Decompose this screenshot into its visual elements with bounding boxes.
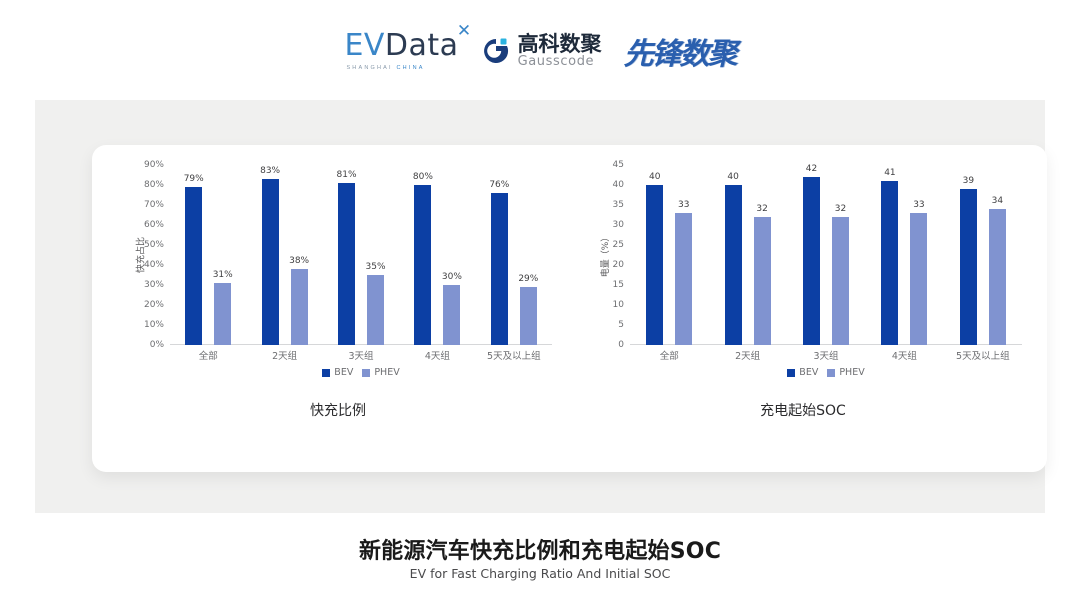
legend-item-phev[interactable]: PHEV xyxy=(362,367,399,378)
x-axis-tick-label: 4天组 xyxy=(865,348,943,362)
y-axis-tick: 80% xyxy=(144,180,164,190)
logo-bar: EVData✕ SHANGHAI CHINA 高科数聚 Gausscode 先锋… xyxy=(0,22,1080,80)
legend-item-phev[interactable]: PHEV xyxy=(827,367,864,378)
charts-card: 快充占比0%10%20%30%40%50%60%70%80%90%79%31%8… xyxy=(92,145,1047,472)
y-axis-tick: 10% xyxy=(144,320,164,330)
x-axis-tick-label: 全部 xyxy=(170,348,246,362)
y-axis-tick: 35 xyxy=(613,200,624,210)
bar-bev[interactable]: 39 xyxy=(960,189,977,345)
bar-bev[interactable]: 40 xyxy=(646,185,663,345)
legend-label: PHEV xyxy=(374,367,399,378)
y-axis-tick: 20% xyxy=(144,300,164,310)
bar-group: 80%30% xyxy=(399,165,475,345)
x-axis-tick-label: 5天及以上组 xyxy=(944,348,1022,362)
bar-value-label: 33 xyxy=(678,200,689,210)
bar-value-label: 38% xyxy=(289,256,309,266)
x-axis-tick-label: 4天组 xyxy=(399,348,475,362)
bar-value-label: 30% xyxy=(442,272,462,282)
page-subtitle: EV for Fast Charging Ratio And Initial S… xyxy=(0,566,1080,581)
legend-label: PHEV xyxy=(839,367,864,378)
gausscode-cn-text: 高科数聚 xyxy=(518,33,602,55)
chart-legend: BEVPHEV xyxy=(630,367,1022,378)
bar-bev[interactable]: 83% xyxy=(262,179,279,345)
bar-phev[interactable]: 31% xyxy=(214,283,231,345)
bar-value-label: 32 xyxy=(835,204,846,214)
y-axis-tick: 60% xyxy=(144,220,164,230)
bar-group: 3934 xyxy=(944,165,1022,345)
evdata-tagline: SHANGHAI CHINA xyxy=(346,65,424,71)
evdata-x-icon: ✕ xyxy=(457,23,472,40)
chart-caption: 充电起始SOC xyxy=(568,400,1038,420)
y-axis-tick: 30 xyxy=(613,220,624,230)
bar-bev[interactable]: 79% xyxy=(185,187,202,345)
gausscode-mark-icon xyxy=(481,36,511,66)
bar-group: 81%35% xyxy=(323,165,399,345)
y-axis-tick: 40% xyxy=(144,260,164,270)
legend-swatch-icon xyxy=(322,369,330,377)
bar-group: 79%31% xyxy=(170,165,246,345)
y-axis-tick: 20 xyxy=(613,260,624,270)
bar-value-label: 79% xyxy=(184,174,204,184)
bar-value-label: 41 xyxy=(884,168,895,178)
bar-phev[interactable]: 35% xyxy=(367,275,384,345)
bar-value-label: 39 xyxy=(963,176,974,186)
bar-groups: 79%31%83%38%81%35%80%30%76%29% xyxy=(170,165,552,345)
bar-group: 76%29% xyxy=(476,165,552,345)
legend-swatch-icon xyxy=(827,369,835,377)
x-axis-tick-label: 2天组 xyxy=(246,348,322,362)
x-axis-tick-label: 3天组 xyxy=(787,348,865,362)
evdata-logo: EVData✕ SHANGHAI CHINA xyxy=(344,31,458,71)
chart-legend: BEVPHEV xyxy=(170,367,552,378)
bar-phev[interactable]: 30% xyxy=(443,285,460,345)
bar-value-label: 42 xyxy=(806,164,817,174)
bar-value-label: 80% xyxy=(413,172,433,182)
bar-value-label: 83% xyxy=(260,166,280,176)
chart-initial-soc: 电量（%）05101520253035404540334032423241333… xyxy=(568,145,1038,472)
gausscode-logo: 高科数聚 Gausscode xyxy=(481,33,602,69)
evdata-wordmark: EVData✕ xyxy=(344,31,458,61)
bar-phev[interactable]: 33 xyxy=(910,213,927,345)
y-axis-tick: 10 xyxy=(613,300,624,310)
y-axis-tick: 25 xyxy=(613,240,624,250)
bar-value-label: 31% xyxy=(213,270,233,280)
bar-group: 4133 xyxy=(865,165,943,345)
y-axis-tick: 5 xyxy=(618,320,624,330)
bar-value-label: 76% xyxy=(489,180,509,190)
xianfeng-logo: 先锋数聚 xyxy=(624,29,736,73)
bar-phev[interactable]: 34 xyxy=(989,209,1006,345)
y-axis-tick: 50% xyxy=(144,240,164,250)
x-axis-tick-label: 全部 xyxy=(630,348,708,362)
bar-bev[interactable]: 40 xyxy=(725,185,742,345)
y-axis-tick: 30% xyxy=(144,280,164,290)
bar-groups: 40334032423241333934 xyxy=(630,165,1022,345)
bar-bev[interactable]: 76% xyxy=(491,193,508,345)
bar-phev[interactable]: 33 xyxy=(675,213,692,345)
bar-phev[interactable]: 29% xyxy=(520,287,537,345)
bar-value-label: 81% xyxy=(337,170,357,180)
y-axis-tick: 15 xyxy=(613,280,624,290)
bar-phev[interactable]: 38% xyxy=(291,269,308,345)
bar-group: 4033 xyxy=(630,165,708,345)
evdata-ev-text: EV xyxy=(344,28,384,63)
legend-label: BEV xyxy=(799,367,818,378)
bar-bev[interactable]: 80% xyxy=(414,185,431,345)
bar-group: 4032 xyxy=(708,165,786,345)
x-axis-tick-label: 5天及以上组 xyxy=(476,348,552,362)
bar-group: 83%38% xyxy=(246,165,322,345)
chart-fast-charging-ratio: 快充占比0%10%20%30%40%50%60%70%80%90%79%31%8… xyxy=(108,145,568,472)
x-axis-labels: 全部2天组3天组4天组5天及以上组 xyxy=(630,348,1022,362)
evdata-city-text: SHANGHAI xyxy=(346,65,392,71)
bar-value-label: 40 xyxy=(727,172,738,182)
legend-swatch-icon xyxy=(362,369,370,377)
evdata-country-text: CHINA xyxy=(397,65,425,71)
bar-value-label: 40 xyxy=(649,172,660,182)
bar-phev[interactable]: 32 xyxy=(832,217,849,345)
bar-bev[interactable]: 81% xyxy=(338,183,355,345)
y-axis-tick: 90% xyxy=(144,160,164,170)
bar-value-label: 35% xyxy=(366,262,386,272)
plot-area: 快充占比0%10%20%30%40%50%60%70%80%90%79%31%8… xyxy=(170,165,552,345)
bar-bev[interactable]: 42 xyxy=(803,177,820,345)
evdata-data-text: Data xyxy=(385,28,459,63)
legend-label: BEV xyxy=(334,367,353,378)
legend-item-bev[interactable]: BEV xyxy=(322,367,353,378)
bar-value-label: 34 xyxy=(992,196,1003,206)
x-axis-tick-label: 3天组 xyxy=(323,348,399,362)
x-axis-tick-label: 2天组 xyxy=(708,348,786,362)
y-axis-tick: 0 xyxy=(618,340,624,350)
x-axis-labels: 全部2天组3天组4天组5天及以上组 xyxy=(170,348,552,362)
y-axis-tick: 40 xyxy=(613,180,624,190)
legend-swatch-icon xyxy=(787,369,795,377)
y-axis-tick: 70% xyxy=(144,200,164,210)
legend-item-bev[interactable]: BEV xyxy=(787,367,818,378)
bar-value-label: 33 xyxy=(913,200,924,210)
bar-value-label: 32 xyxy=(756,204,767,214)
bar-phev[interactable]: 32 xyxy=(754,217,771,345)
plot-area: 电量（%）05101520253035404540334032423241333… xyxy=(630,165,1022,345)
page-title: 新能源汽车快充比例和充电起始SOC xyxy=(0,533,1080,565)
bar-group: 4232 xyxy=(787,165,865,345)
gausscode-text-block: 高科数聚 Gausscode xyxy=(518,33,602,69)
y-axis-title: 电量（%） xyxy=(598,233,611,278)
bar-value-label: 29% xyxy=(518,274,538,284)
bar-bev[interactable]: 41 xyxy=(881,181,898,345)
gausscode-en-text: Gausscode xyxy=(518,55,602,69)
y-axis-tick: 0% xyxy=(150,340,164,350)
chart-caption: 快充比例 xyxy=(108,400,568,420)
y-axis-tick: 45 xyxy=(613,160,624,170)
